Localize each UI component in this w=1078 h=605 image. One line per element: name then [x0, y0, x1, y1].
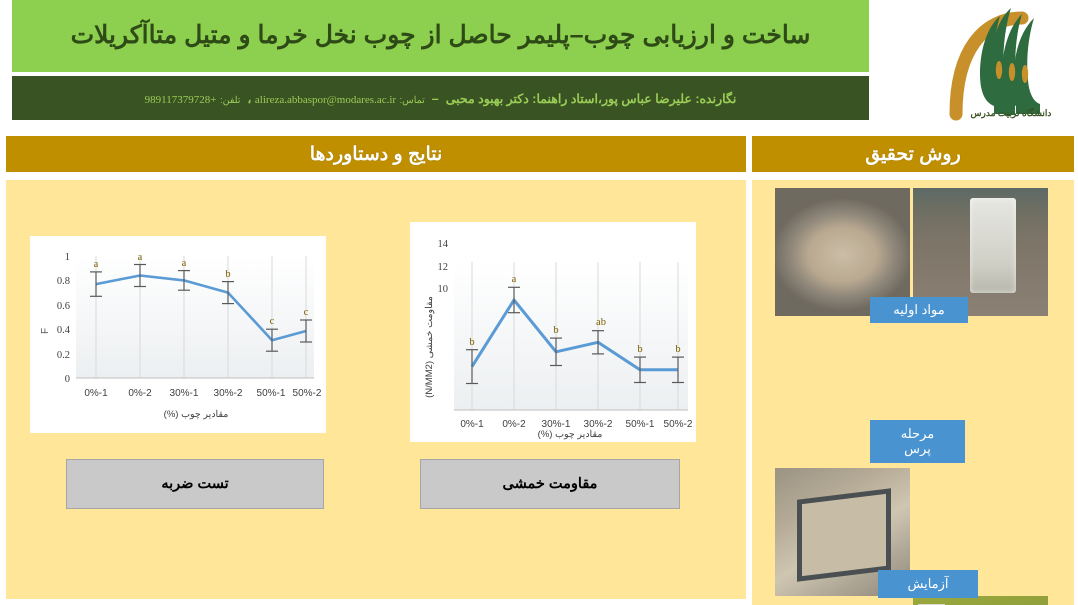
svg-text:0.8: 0.8 — [57, 276, 70, 287]
flexural-strength-button-label: مقاومت خمشی — [503, 476, 598, 492]
svg-text:0: 0 — [65, 374, 70, 385]
author-contact-line: نگارنده: علیرضا عباس پور،استاد راهنما: د… — [145, 91, 737, 106]
svg-text:0%-2: 0%-2 — [502, 419, 526, 430]
logo-caption: دانشگاه تربیت مدرس — [948, 108, 1074, 119]
flexural-strength-chart: 14 12 10 مقاومت خمشی (N/MM2) — [410, 222, 696, 442]
svg-text:12: 12 — [438, 262, 449, 273]
section-header-results: نتایج و دستاوردها — [6, 136, 746, 172]
author-phone: +989117379728 — [145, 94, 217, 106]
svg-text:c: c — [270, 316, 275, 327]
author-label: نگارنده: علیرضا عباس پور،استاد راهنما: د… — [446, 92, 737, 106]
poster-root: ساخت و ارزیابی چوب–پلیمر حاصل از چوب نخل… — [0, 0, 1078, 605]
svg-text:مقادیر چوب (%): مقادیر چوب (%) — [164, 409, 229, 420]
svg-text:b: b — [225, 269, 230, 280]
svg-text:10: 10 — [438, 284, 449, 295]
svg-text:0%-1: 0%-1 — [460, 419, 484, 430]
svg-text:1: 1 — [65, 252, 70, 263]
svg-text:50%-2: 50%-2 — [293, 388, 322, 399]
svg-text:30%-1: 30%-1 — [170, 388, 199, 399]
svg-text:ab: ab — [596, 317, 606, 328]
svg-text:مقاومت خمشی (N/MM2): مقاومت خمشی (N/MM2) — [424, 296, 435, 398]
section-header-method-label: روش تحقیق — [865, 143, 961, 166]
flexural-strength-button[interactable]: مقاومت خمشی — [420, 459, 680, 509]
caption-press-stage: مرحله پرس — [870, 420, 965, 463]
caption-press-stage-line2: پرس — [904, 442, 931, 457]
svg-text:50%-1: 50%-1 — [626, 419, 655, 430]
svg-text:50%-2: 50%-2 — [664, 419, 693, 430]
author-email[interactable]: alireza.abbaspor@modares.ac.ir — [255, 94, 396, 106]
caption-raw-materials: مواد اولیه — [870, 297, 968, 323]
phone-label: تلفن: — [220, 95, 240, 106]
svg-text:a: a — [182, 258, 187, 269]
section-header-method: روش تحقیق — [752, 136, 1074, 172]
svg-text:a: a — [512, 274, 517, 285]
caption-testing: آزمایش — [878, 570, 978, 598]
contact-label: تماس: — [400, 95, 425, 106]
svg-text:50%-1: 50%-1 — [257, 388, 286, 399]
page-title: ساخت و ارزیابی چوب–پلیمر حاصل از چوب نخل… — [71, 22, 811, 50]
svg-text:0.2: 0.2 — [57, 350, 70, 361]
impact-test-button-label: تست ضربه — [161, 476, 228, 492]
university-logo: دانشگاه تربیت مدرس — [948, 2, 1074, 122]
svg-text:b: b — [469, 337, 474, 348]
svg-text:b: b — [553, 325, 558, 336]
section-header-results-label: نتایج و دستاوردها — [310, 143, 443, 166]
caption-testing-label: آزمایش — [908, 577, 949, 592]
svg-text:F: F — [40, 328, 51, 334]
svg-text:a: a — [94, 259, 99, 270]
svg-text:a: a — [138, 252, 143, 263]
svg-text:b: b — [637, 344, 642, 355]
svg-text:c: c — [304, 307, 309, 318]
svg-text:0%-2: 0%-2 — [128, 388, 152, 399]
impact-test-chart: 1 0.8 0.6 0.4 0.2 0 F — [30, 236, 326, 433]
svg-text:b: b — [675, 344, 680, 355]
impact-test-button[interactable]: تست ضربه — [66, 459, 324, 509]
svg-text:0.4: 0.4 — [57, 325, 71, 336]
header-title-band: ساخت و ارزیابی چوب–پلیمر حاصل از چوب نخل… — [12, 0, 869, 72]
svg-text:14: 14 — [438, 239, 449, 250]
svg-text:مقادیر چوب (%): مقادیر چوب (%) — [538, 429, 603, 440]
caption-press-stage-line1: مرحله — [901, 427, 934, 442]
svg-text:30%-2: 30%-2 — [214, 388, 243, 399]
header-author-band: نگارنده: علیرضا عباس پور،استاد راهنما: د… — [12, 76, 869, 120]
caption-raw-materials-label: مواد اولیه — [893, 303, 944, 318]
svg-text:0%-1: 0%-1 — [84, 388, 108, 399]
svg-text:0.6: 0.6 — [57, 301, 70, 312]
